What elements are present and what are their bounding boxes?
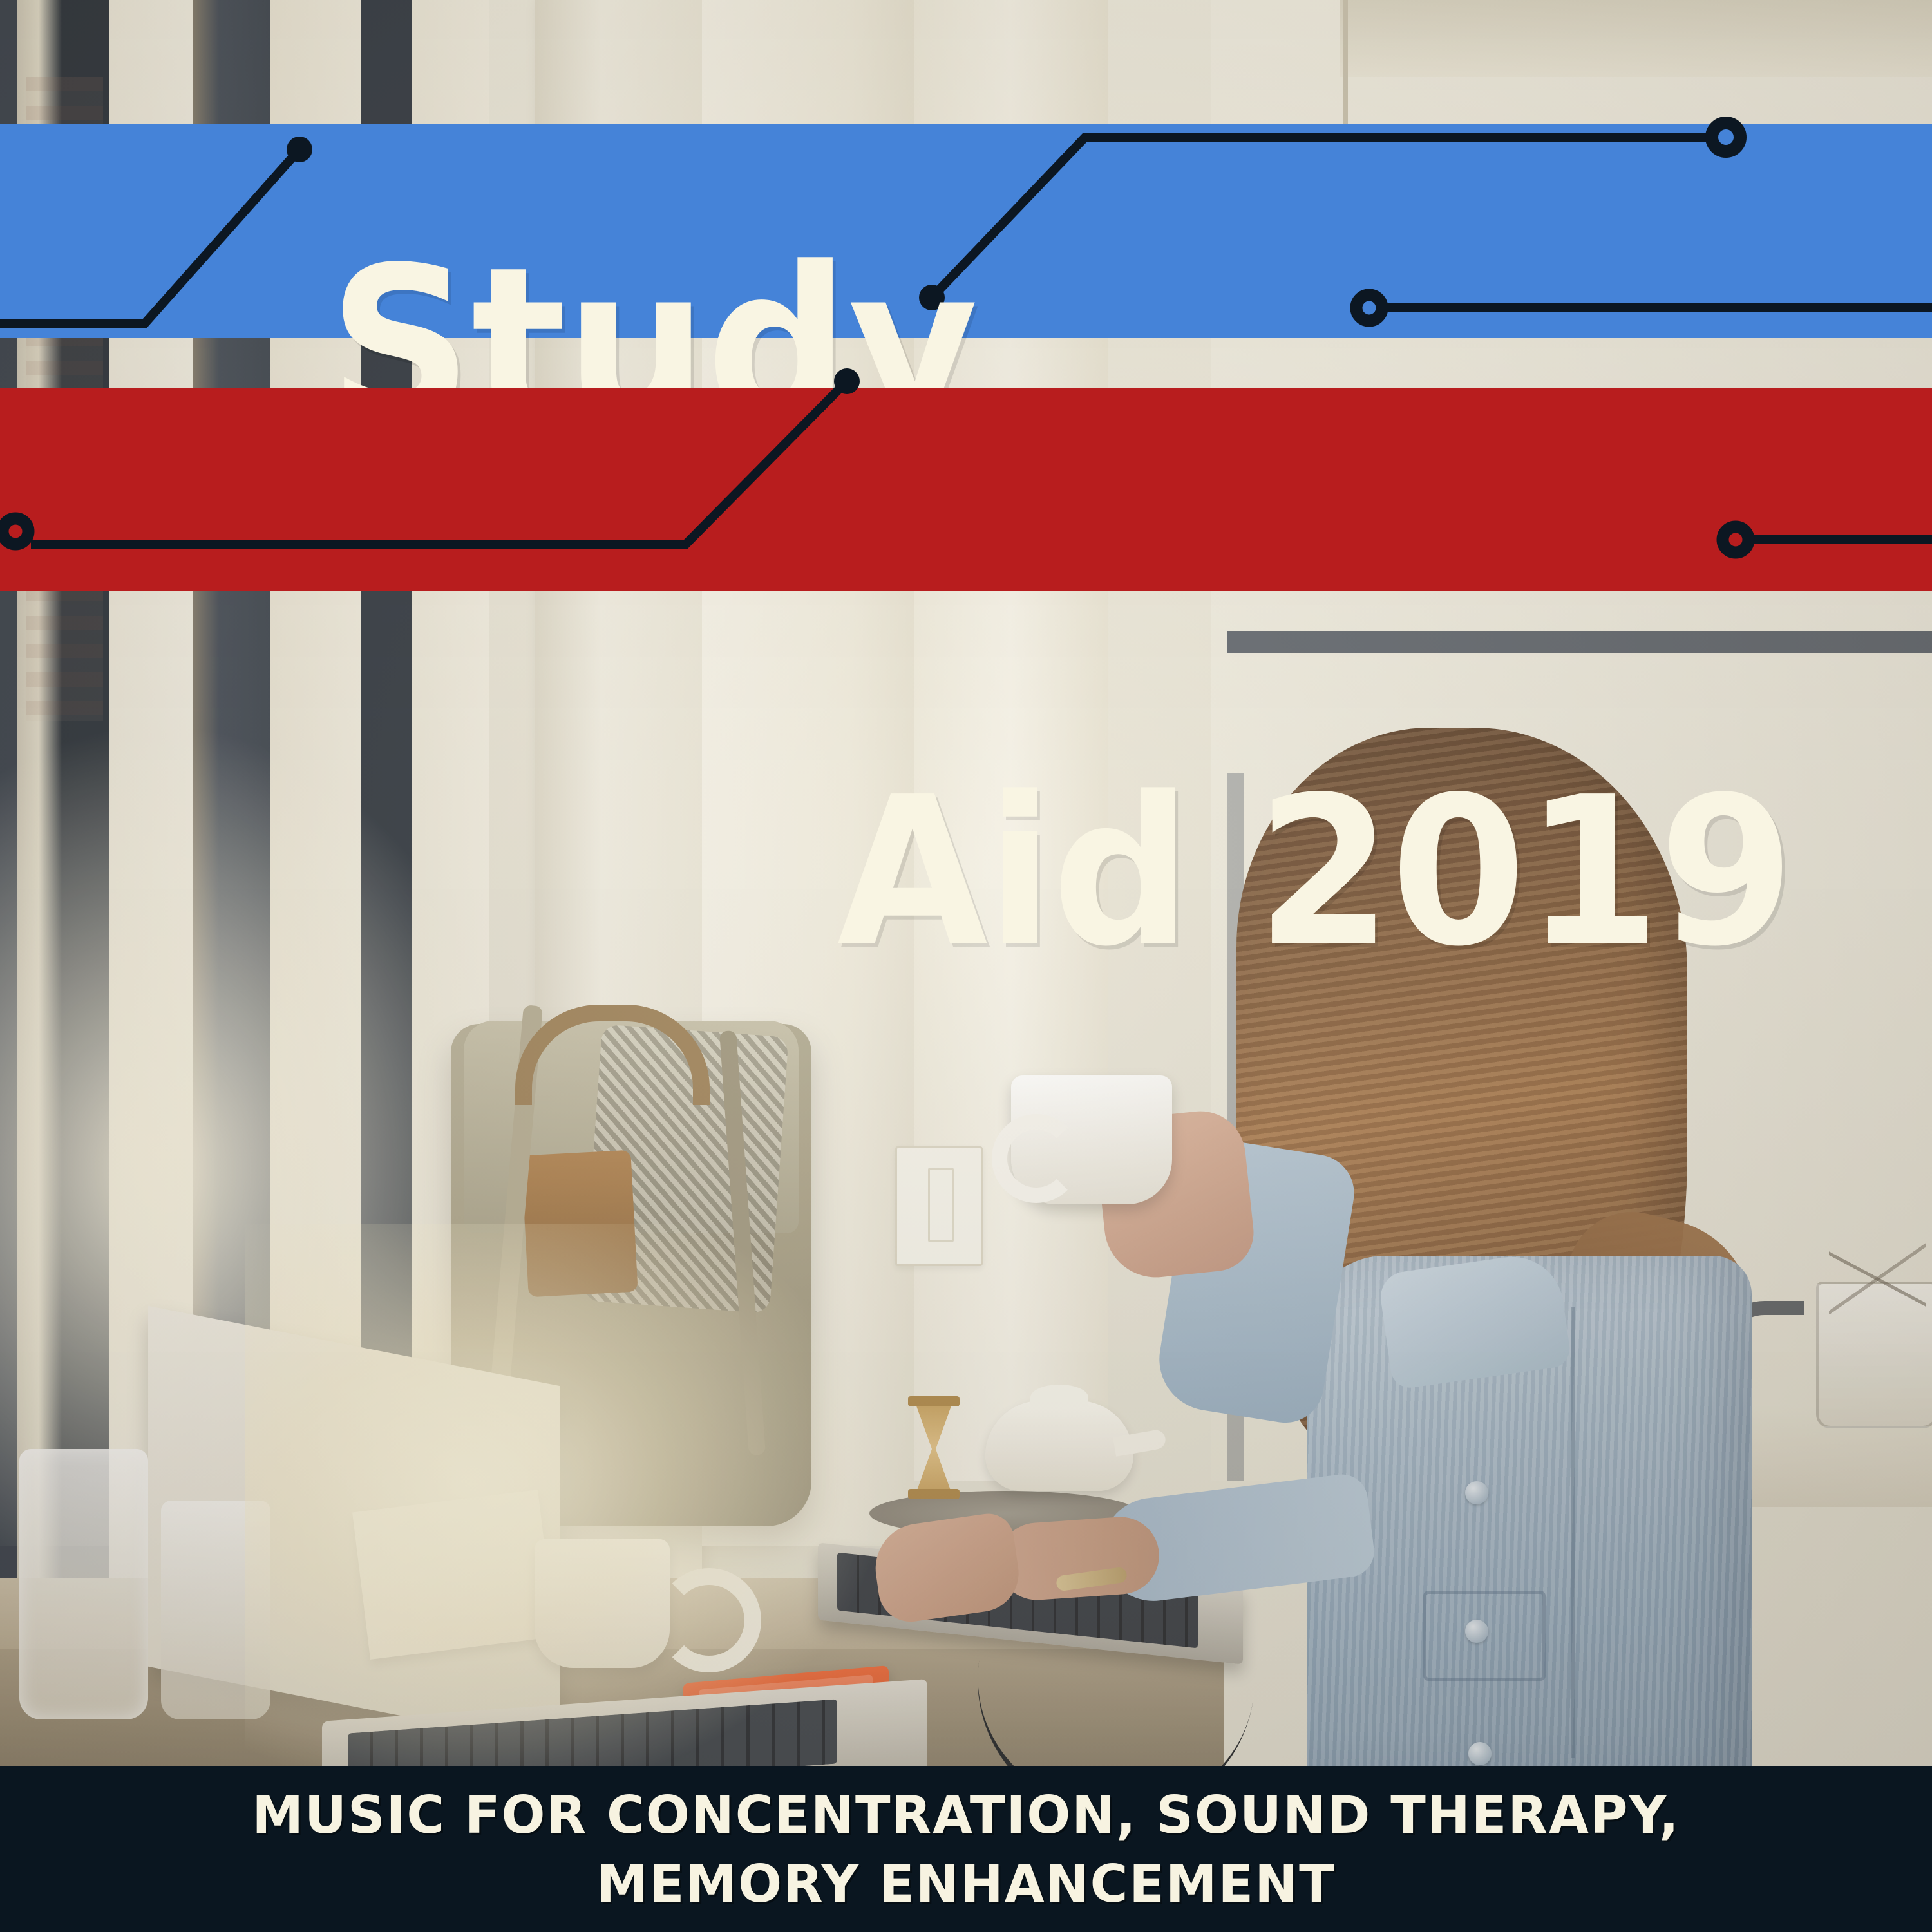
glass-jar (19, 1449, 148, 1719)
jacket-button-top (1465, 1481, 1488, 1504)
circuit-trace-red (0, 388, 1932, 591)
title-band-red: Aid 2019 (0, 388, 1932, 591)
circuit-path-blue-left (0, 149, 299, 323)
title-band-blue: Study (0, 124, 1932, 338)
circuit-node-ring-blue-bottom (1356, 295, 1382, 321)
jacket-seam (1571, 1307, 1575, 1758)
typing-forearm (996, 1514, 1162, 1602)
circuit-node-ring-blue-top (1712, 123, 1740, 151)
hourglass-cap-bottom (908, 1489, 960, 1499)
circuit-node-filled-blue-left (287, 137, 312, 162)
jacket-button-middle (1465, 1620, 1488, 1643)
wall-outlet-plate (895, 1146, 983, 1266)
circuit-node-ring-red-right (1723, 527, 1748, 553)
window-mullion-horizontal (1227, 631, 1932, 653)
album-title-line-2: Aid 2019 (837, 770, 1793, 974)
paper-stack (352, 1490, 556, 1660)
subtitle-bar: Music for Concentration, Sound Therapy, … (0, 1766, 1932, 1932)
backpack-leather-panel (521, 1150, 638, 1298)
subtitle-line-1: Music for Concentration, Sound Therapy, (252, 1785, 1680, 1845)
teapot (985, 1401, 1133, 1491)
circuit-path-blue-top (932, 137, 1713, 298)
circuit-node-filled-red (834, 368, 860, 394)
window-shade (1340, 0, 1932, 77)
desk-mug (535, 1539, 670, 1668)
album-cover: Study Aid 2019 Music for Concentration, … (0, 0, 1932, 1932)
circuit-path-red-left (31, 381, 847, 544)
coffee-cup-handle (992, 1114, 1081, 1203)
jacket-button-bottom (1468, 1742, 1492, 1765)
subtitle-line-2: Memory Enhancement (596, 1854, 1335, 1914)
glass-jar-second (161, 1501, 270, 1719)
circuit-node-ring-red-left (3, 518, 28, 544)
desk-mug-handle (657, 1568, 761, 1672)
dried-twigs (1829, 1243, 1926, 1314)
hourglass-cap-top (908, 1396, 960, 1406)
teapot-lid (1030, 1385, 1088, 1410)
